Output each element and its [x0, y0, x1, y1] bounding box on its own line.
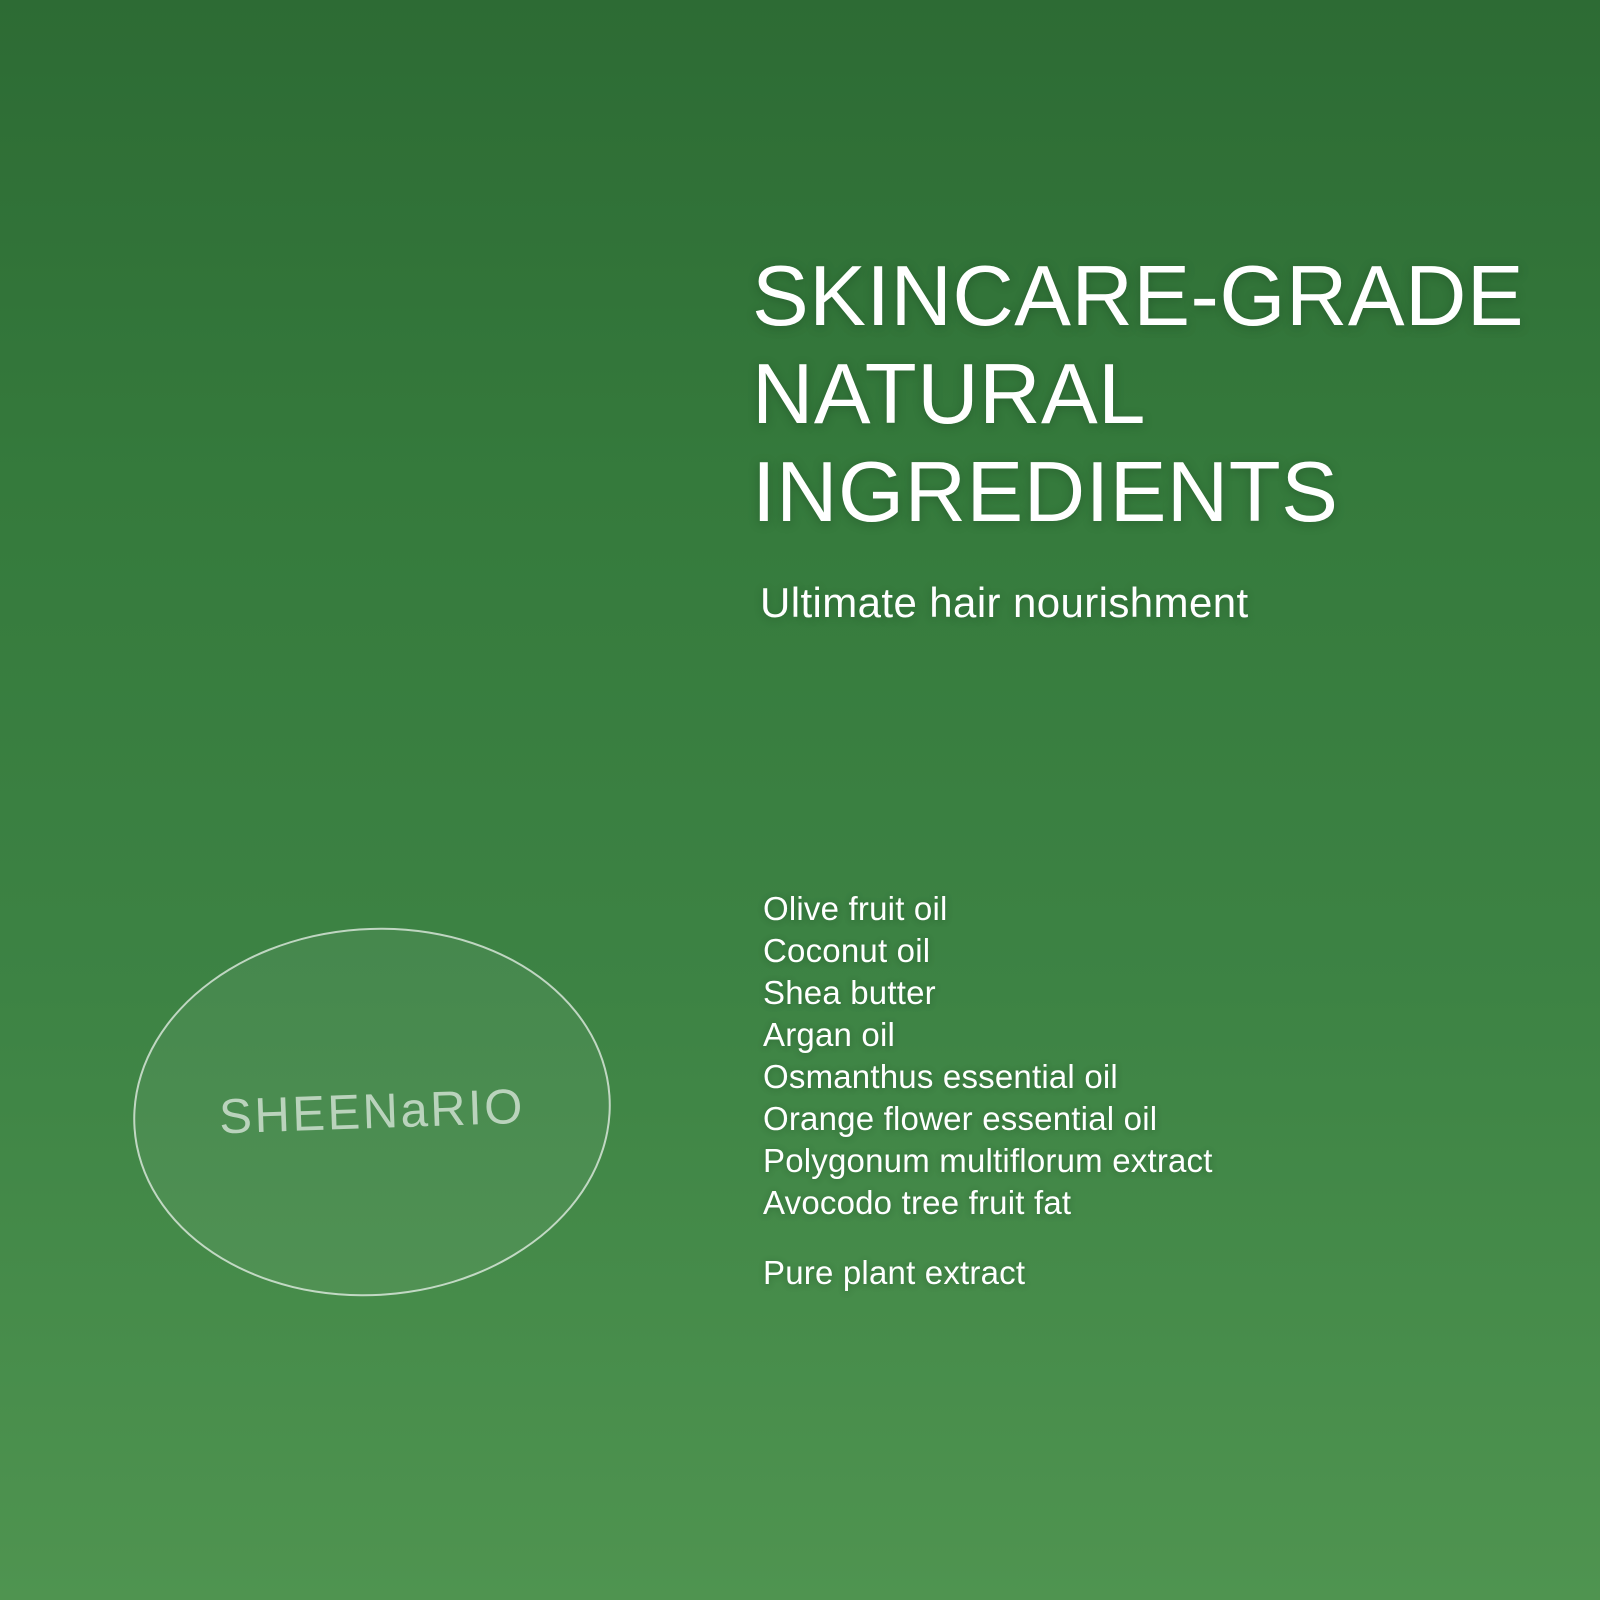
- tagline: Pure plant extract: [763, 1252, 1025, 1294]
- content-overlay: SKINCARE-GRADE NATURAL INGREDIENTS Ultim…: [0, 0, 1600, 1600]
- list-item: Olive fruit oil: [763, 888, 1213, 930]
- list-item: Polygonum multiflorum extract: [763, 1140, 1213, 1182]
- headline-line-2: NATURAL: [752, 346, 1552, 444]
- headline-line-3: INGREDIENTS: [752, 444, 1552, 542]
- list-item: Osmanthus essential oil: [763, 1056, 1213, 1098]
- list-item: Shea butter: [763, 972, 1213, 1014]
- list-item: Orange flower essential oil: [763, 1098, 1213, 1140]
- brand-watermark: SHEENaRIO: [133, 928, 611, 1296]
- list-item: Coconut oil: [763, 930, 1213, 972]
- list-item: Argan oil: [763, 1014, 1213, 1056]
- headline-line-1: SKINCARE-GRADE: [752, 248, 1552, 346]
- page-title: SKINCARE-GRADE NATURAL INGREDIENTS: [752, 248, 1552, 542]
- poster-canvas: SKINCARE-GRADE NATURAL INGREDIENTS Ultim…: [0, 0, 1600, 1600]
- list-item: Avocodo tree fruit fat: [763, 1182, 1213, 1224]
- ingredient-list: Olive fruit oil Coconut oil Shea butter …: [763, 888, 1213, 1224]
- subtitle: Ultimate hair nourishment: [760, 578, 1249, 628]
